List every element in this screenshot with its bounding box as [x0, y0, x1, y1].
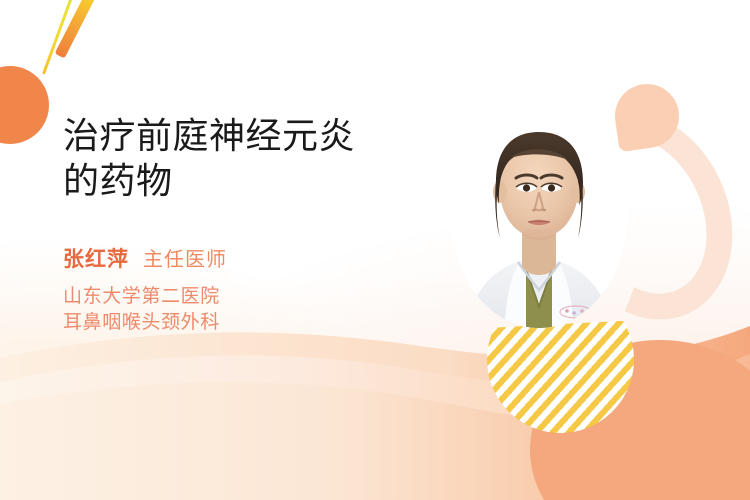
department-name: 耳鼻咽喉头颈外科 [63, 310, 423, 336]
affiliation: 山东大学第二医院 耳鼻咽喉头颈外科 [63, 284, 423, 335]
text-block: 治疗前庭神经元炎 的药物 张红萍 主任医师 山东大学第二医院 耳鼻咽喉头颈外科 [63, 114, 423, 336]
video-cover-card: 治疗前庭神经元炎 的药物 张红萍 主任医师 山东大学第二医院 耳鼻咽喉头颈外科 [0, 0, 750, 500]
doctor-line: 张红萍 主任医师 [63, 243, 423, 273]
doctor-title: 主任医师 [143, 243, 227, 272]
doctor-name: 张红萍 [63, 243, 129, 273]
doctor-portrait [434, 98, 644, 348]
page-title: 治疗前庭神经元炎 的药物 [63, 114, 423, 203]
hospital-name: 山东大学第二医院 [63, 284, 423, 310]
